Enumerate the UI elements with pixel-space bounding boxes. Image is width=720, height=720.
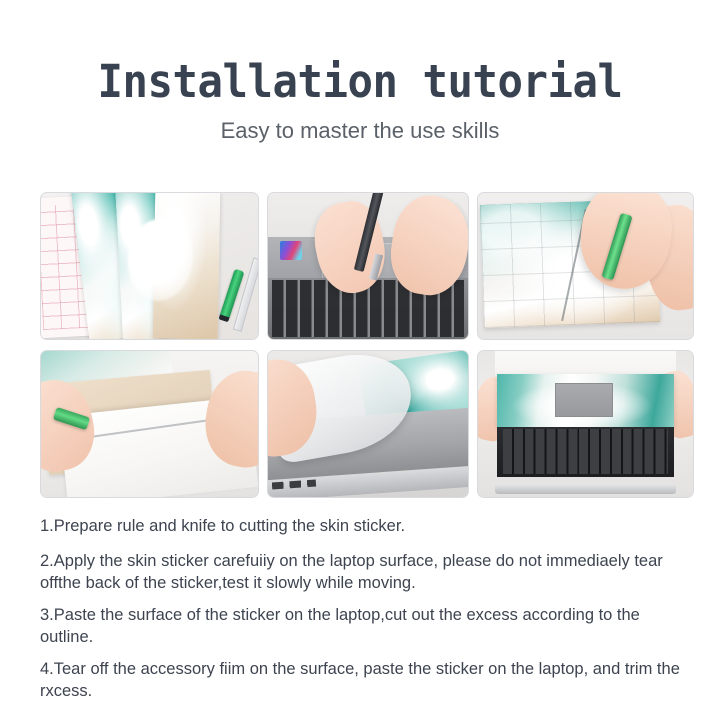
photo-cutting-over-keyboard <box>268 193 468 339</box>
tutorial-step-image-2 <box>267 192 469 340</box>
laptop-keyboard <box>497 427 673 477</box>
photo-peeling-backing-paper <box>41 351 258 497</box>
laptop-hinge <box>495 484 676 494</box>
photo-cutting-teal-sticker <box>478 193 693 339</box>
instruction-step-1: 1.Prepare rule and knife to cutting the … <box>40 516 692 537</box>
page-title: Installation tutorial <box>22 58 699 105</box>
photo-peeling-transfer-film <box>268 351 468 497</box>
tutorial-step-image-6 <box>477 350 694 498</box>
tutorial-page: Installation tutorial Easy to master the… <box>0 0 720 720</box>
tutorial-step-image-3 <box>477 192 694 340</box>
instruction-step-2: 2.Apply the skin sticker carefuiiy on th… <box>40 551 692 594</box>
page-subtitle: Easy to master the use skills <box>0 119 720 143</box>
tutorial-step-image-1 <box>40 192 259 340</box>
photo-applying-palmrest-skin <box>478 351 693 497</box>
page-header: Installation tutorial Easy to master the… <box>0 0 720 143</box>
instruction-step-4: 4.Tear off the accessory fiim on the sur… <box>40 659 692 702</box>
tutorial-step-image-4 <box>40 350 259 498</box>
instruction-step-3: 3.Paste the surface of the sticker on th… <box>40 605 692 648</box>
tutorial-step-image-5 <box>267 350 469 498</box>
tutorial-image-grid <box>40 192 686 498</box>
laptop-logo-sticker <box>280 241 302 260</box>
instruction-list: 1.Prepare rule and knife to cutting the … <box>40 516 692 702</box>
trackpad-cutout <box>555 383 613 417</box>
photo-skin-sheets-with-ruler <box>41 193 258 339</box>
